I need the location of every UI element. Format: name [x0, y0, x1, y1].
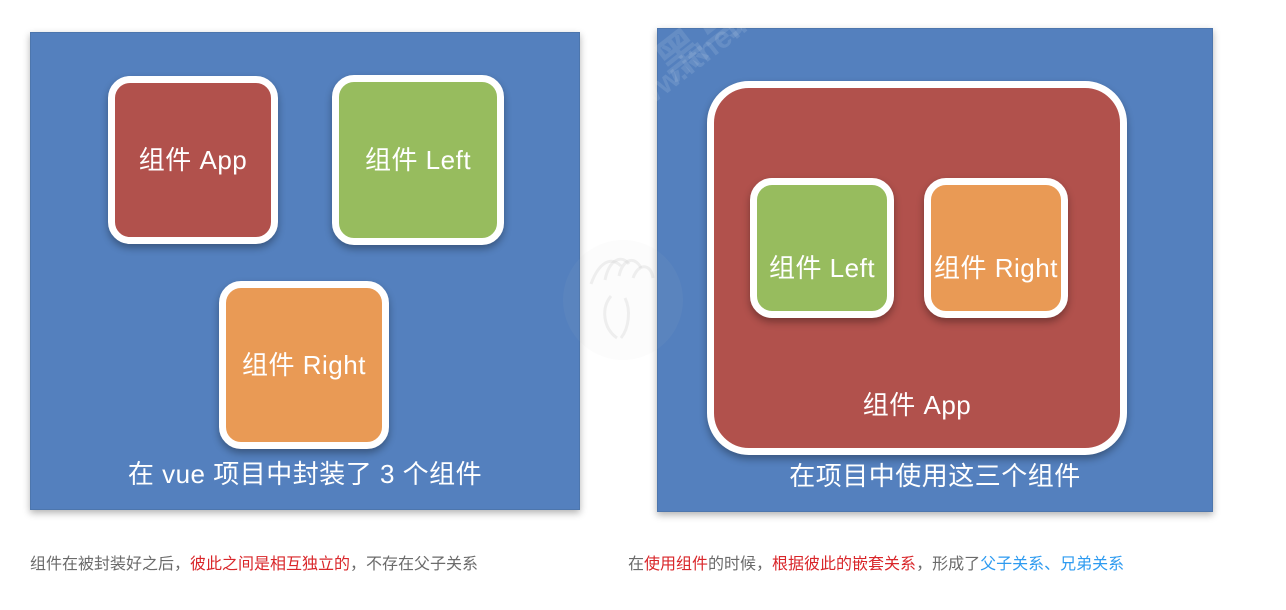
component-box-label: 组件 Right [931, 255, 1061, 281]
footnote-segment: 的时候， [708, 556, 772, 573]
footnote-usage: 在使用组件的时候，根据彼此的嵌套关系，形成了父子关系、兄弟关系 [628, 557, 1124, 573]
footnote-segment: 彼此之间是相互独立的 [190, 556, 350, 573]
component-box-app-container[interactable]: 组件 Left 组件 Right 组件 App [707, 81, 1127, 455]
footnote-segment: 在 [628, 556, 644, 573]
component-box-label: 组件 App [139, 147, 248, 173]
component-box-right-standalone[interactable]: 组件 Right [219, 281, 389, 449]
footnote-segment: 父子关系、兄弟关系 [980, 556, 1124, 573]
component-box-label: 组件 Right [242, 352, 366, 378]
panel-caption-encapsulation: 在 vue 项目中封装了 3 个组件 [31, 461, 579, 487]
component-box-label: 组件 App [714, 392, 1120, 418]
footnote-encapsulation: 组件在被封装好之后，彼此之间是相互独立的，不存在父子关系 [30, 557, 478, 573]
footnote-segment: 根据彼此的嵌套关系 [772, 556, 916, 573]
panel-usage: 组件 Left 组件 Right 组件 App 在项目中使用这三个组件 [657, 28, 1213, 512]
component-box-label: 组件 Left [757, 255, 887, 281]
component-box-label: 组件 Left [365, 147, 471, 173]
footnote-segment: ，不存在父子关系 [350, 556, 478, 573]
panel-encapsulation: 组件 App 组件 Left 组件 Right 在 vue 项目中封装了 3 个… [30, 32, 580, 510]
panel-caption-usage: 在项目中使用这三个组件 [658, 463, 1212, 489]
footnote-segment: ，形成了 [916, 556, 980, 573]
component-box-left-nested[interactable]: 组件 Left [750, 178, 894, 318]
footnote-segment: 组件在被封装好之后， [30, 556, 190, 573]
component-box-left-standalone[interactable]: 组件 Left [332, 75, 504, 245]
footnote-segment: 使用组件 [644, 556, 708, 573]
component-box-app-standalone[interactable]: 组件 App [108, 76, 278, 244]
component-box-right-nested[interactable]: 组件 Right [924, 178, 1068, 318]
